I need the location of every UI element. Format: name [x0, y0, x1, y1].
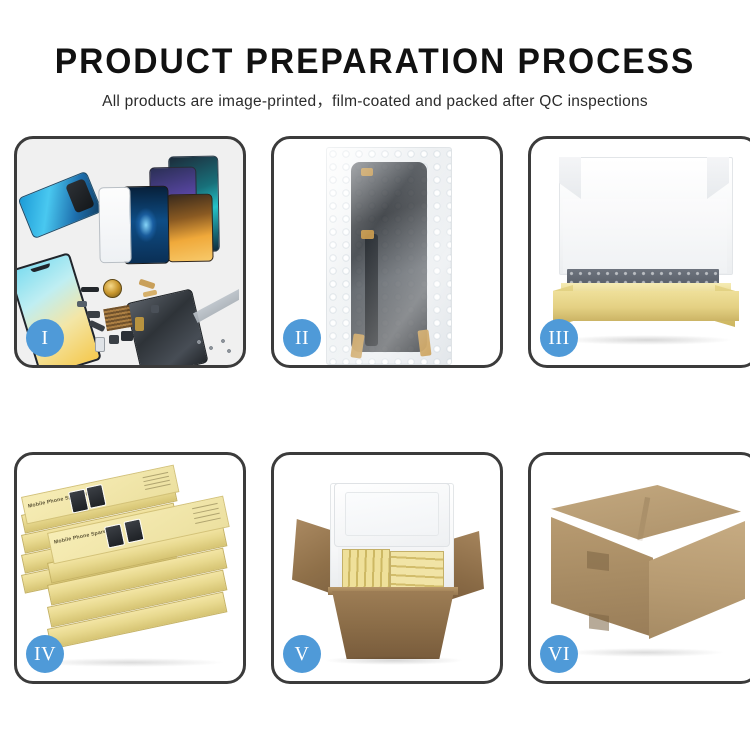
step-badge-3: III	[540, 319, 578, 357]
step-badge-4: IV	[26, 635, 64, 673]
process-step-3: III	[528, 136, 750, 368]
tempered-glass-icon	[98, 187, 131, 264]
process-step-6: VI	[528, 452, 750, 684]
spare-part-icon	[151, 305, 159, 313]
tilted-phone-icon	[17, 171, 102, 240]
page-subtitle: All products are image-printed，film-coat…	[0, 82, 750, 111]
screen-thumbnail-icon	[123, 518, 144, 543]
page-title: PRODUCT PREPARATION PROCESS	[15, 0, 735, 82]
process-step-5: V	[271, 452, 503, 684]
foam-insert-icon	[563, 199, 727, 273]
header: PRODUCT PREPARATION PROCESS All products…	[0, 0, 750, 111]
spare-part-icon	[87, 311, 100, 318]
screen-thumbnail-icon	[85, 484, 106, 509]
kraft-box-front-icon	[553, 291, 739, 321]
bubble-wrap-icon	[326, 147, 452, 365]
screws-icon	[193, 337, 233, 355]
spare-part-icon	[138, 279, 155, 290]
process-step-2: II	[271, 136, 503, 368]
copper-coil-icon	[103, 279, 122, 298]
lcd-screen-icon	[351, 162, 427, 352]
process-step-grid: I II	[14, 136, 736, 684]
foam-lid-icon	[334, 483, 450, 547]
carton-right-face-icon	[649, 521, 745, 639]
label-line	[195, 518, 221, 525]
spare-part-icon	[77, 301, 87, 307]
flex-cable-icon	[365, 234, 378, 346]
process-step-4: Mobile Phone Spare Parts	[14, 452, 246, 684]
step-badge-1: I	[26, 319, 64, 357]
tape-tab-icon	[350, 333, 364, 358]
spare-part-icon	[109, 335, 119, 344]
step-badge-5: V	[283, 635, 321, 673]
chip-grid-icon	[103, 305, 132, 331]
drop-shadow	[565, 648, 725, 657]
process-step-1: I	[14, 136, 246, 368]
spare-part-icon	[135, 317, 144, 331]
tweezers-icon	[193, 289, 239, 323]
drop-shadow	[324, 656, 464, 665]
product-preparation-infographic: PRODUCT PREPARATION PROCESS All products…	[0, 0, 750, 750]
spare-part-icon	[95, 337, 105, 352]
drop-shadow	[35, 658, 225, 667]
tape-tab-icon	[361, 168, 373, 176]
amber-phone-icon	[166, 194, 213, 263]
step-badge-2: II	[283, 319, 321, 357]
carton-tab-icon	[589, 613, 609, 631]
step-badge-6: VI	[540, 635, 578, 673]
drop-shadow	[561, 335, 733, 345]
screen-thumbnail-icon	[104, 523, 125, 548]
tape-tab-icon	[361, 230, 374, 239]
tape-tab-icon	[417, 329, 431, 356]
spare-part-icon	[81, 287, 99, 292]
carton-front-icon	[332, 591, 454, 659]
spare-part-icon	[121, 331, 133, 341]
carton-tab-icon	[587, 551, 609, 571]
